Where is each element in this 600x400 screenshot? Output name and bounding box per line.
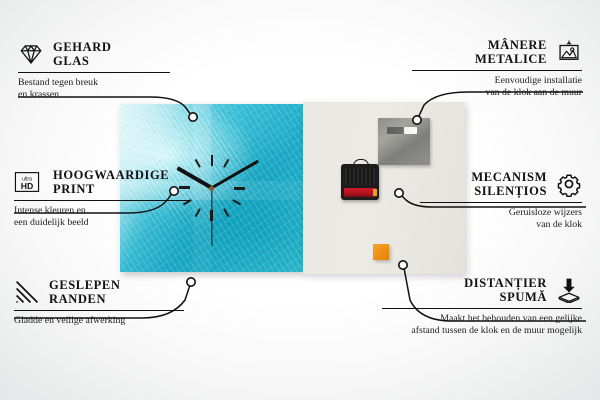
callout-description: Gladde en veilige afwerking	[14, 315, 199, 327]
callout-rule	[382, 308, 582, 309]
callout-title-text: MECANISM SILENȚIOS	[471, 170, 547, 198]
callout-rule	[412, 70, 582, 71]
mechanism-hook	[353, 159, 369, 167]
callout-description: Maakt het behouden van een gelijke afsta…	[382, 313, 582, 337]
callout-rule	[18, 72, 170, 73]
callout-hoogwaardige-print: ultra HD HOOGWAARDIGE PRINT Intense kleu…	[14, 168, 204, 229]
callout-manere-metalice: MÂNERE METALICE Eenvoudige installatie v…	[412, 38, 582, 99]
callout-title-row: GEHARD GLAS	[18, 40, 188, 68]
callout-description: Eenvoudige installatie van de klok aan d…	[412, 75, 582, 99]
callout-description: Geruisloze wijzers van de klok	[420, 207, 582, 231]
hanger-slot	[387, 127, 417, 134]
callout-title-text: DISTANȚIER SPUMĂ	[464, 276, 547, 304]
clock-mechanism-icon	[341, 164, 379, 200]
callout-rule	[14, 200, 189, 201]
callout-rule	[14, 310, 184, 311]
callout-description: Bestand tegen breuk en krassen	[18, 77, 188, 101]
svg-text:HD: HD	[21, 181, 34, 191]
clock-center-cap	[209, 186, 214, 191]
callout-title-row: MECANISM SILENȚIOS	[420, 170, 582, 198]
metal-hanger-plate-icon	[378, 118, 430, 165]
picture-frame-icon	[556, 39, 582, 65]
gear-icon	[556, 171, 582, 197]
callout-distantier-spuma: DISTANȚIER SPUMĂ Maakt het behouden van …	[382, 276, 582, 337]
callout-title-text: GESLEPEN RANDEN	[49, 278, 121, 306]
clock-second-hand	[211, 188, 212, 246]
press-down-pad-icon	[556, 277, 582, 303]
callout-mecanism-silentios: MECANISM SILENȚIOS Geruisloze wijzers va…	[420, 170, 582, 231]
callout-description: Intense kleuren en een duidelijk beeld	[14, 205, 204, 229]
callout-title-text: HOOGWAARDIGE PRINT	[53, 168, 169, 196]
infographic-canvas: GEHARD GLAS Bestand tegen breuk en krass…	[0, 0, 600, 400]
callout-title-text: MÂNERE METALICE	[475, 38, 547, 66]
ground-edges-icon	[14, 279, 40, 305]
aa-battery-icon	[344, 188, 376, 197]
callout-title-row: DISTANȚIER SPUMĂ	[382, 276, 582, 304]
callout-title-text: GEHARD GLAS	[53, 40, 111, 68]
callout-title-row: GESLEPEN RANDEN	[14, 278, 199, 306]
callout-title-row: MÂNERE METALICE	[412, 38, 582, 66]
ultra-hd-icon: ultra HD	[14, 169, 44, 195]
mechanism-grill	[345, 169, 375, 185]
foam-spacer-icon	[373, 244, 389, 260]
callout-gehard-glas: GEHARD GLAS Bestand tegen breuk en krass…	[18, 40, 188, 101]
diamond-icon	[18, 41, 44, 67]
callout-rule	[420, 202, 582, 203]
callout-geslepen-randen: GESLEPEN RANDEN Gladde en veilige afwerk…	[14, 278, 199, 327]
callout-title-row: ultra HD HOOGWAARDIGE PRINT	[14, 168, 204, 196]
